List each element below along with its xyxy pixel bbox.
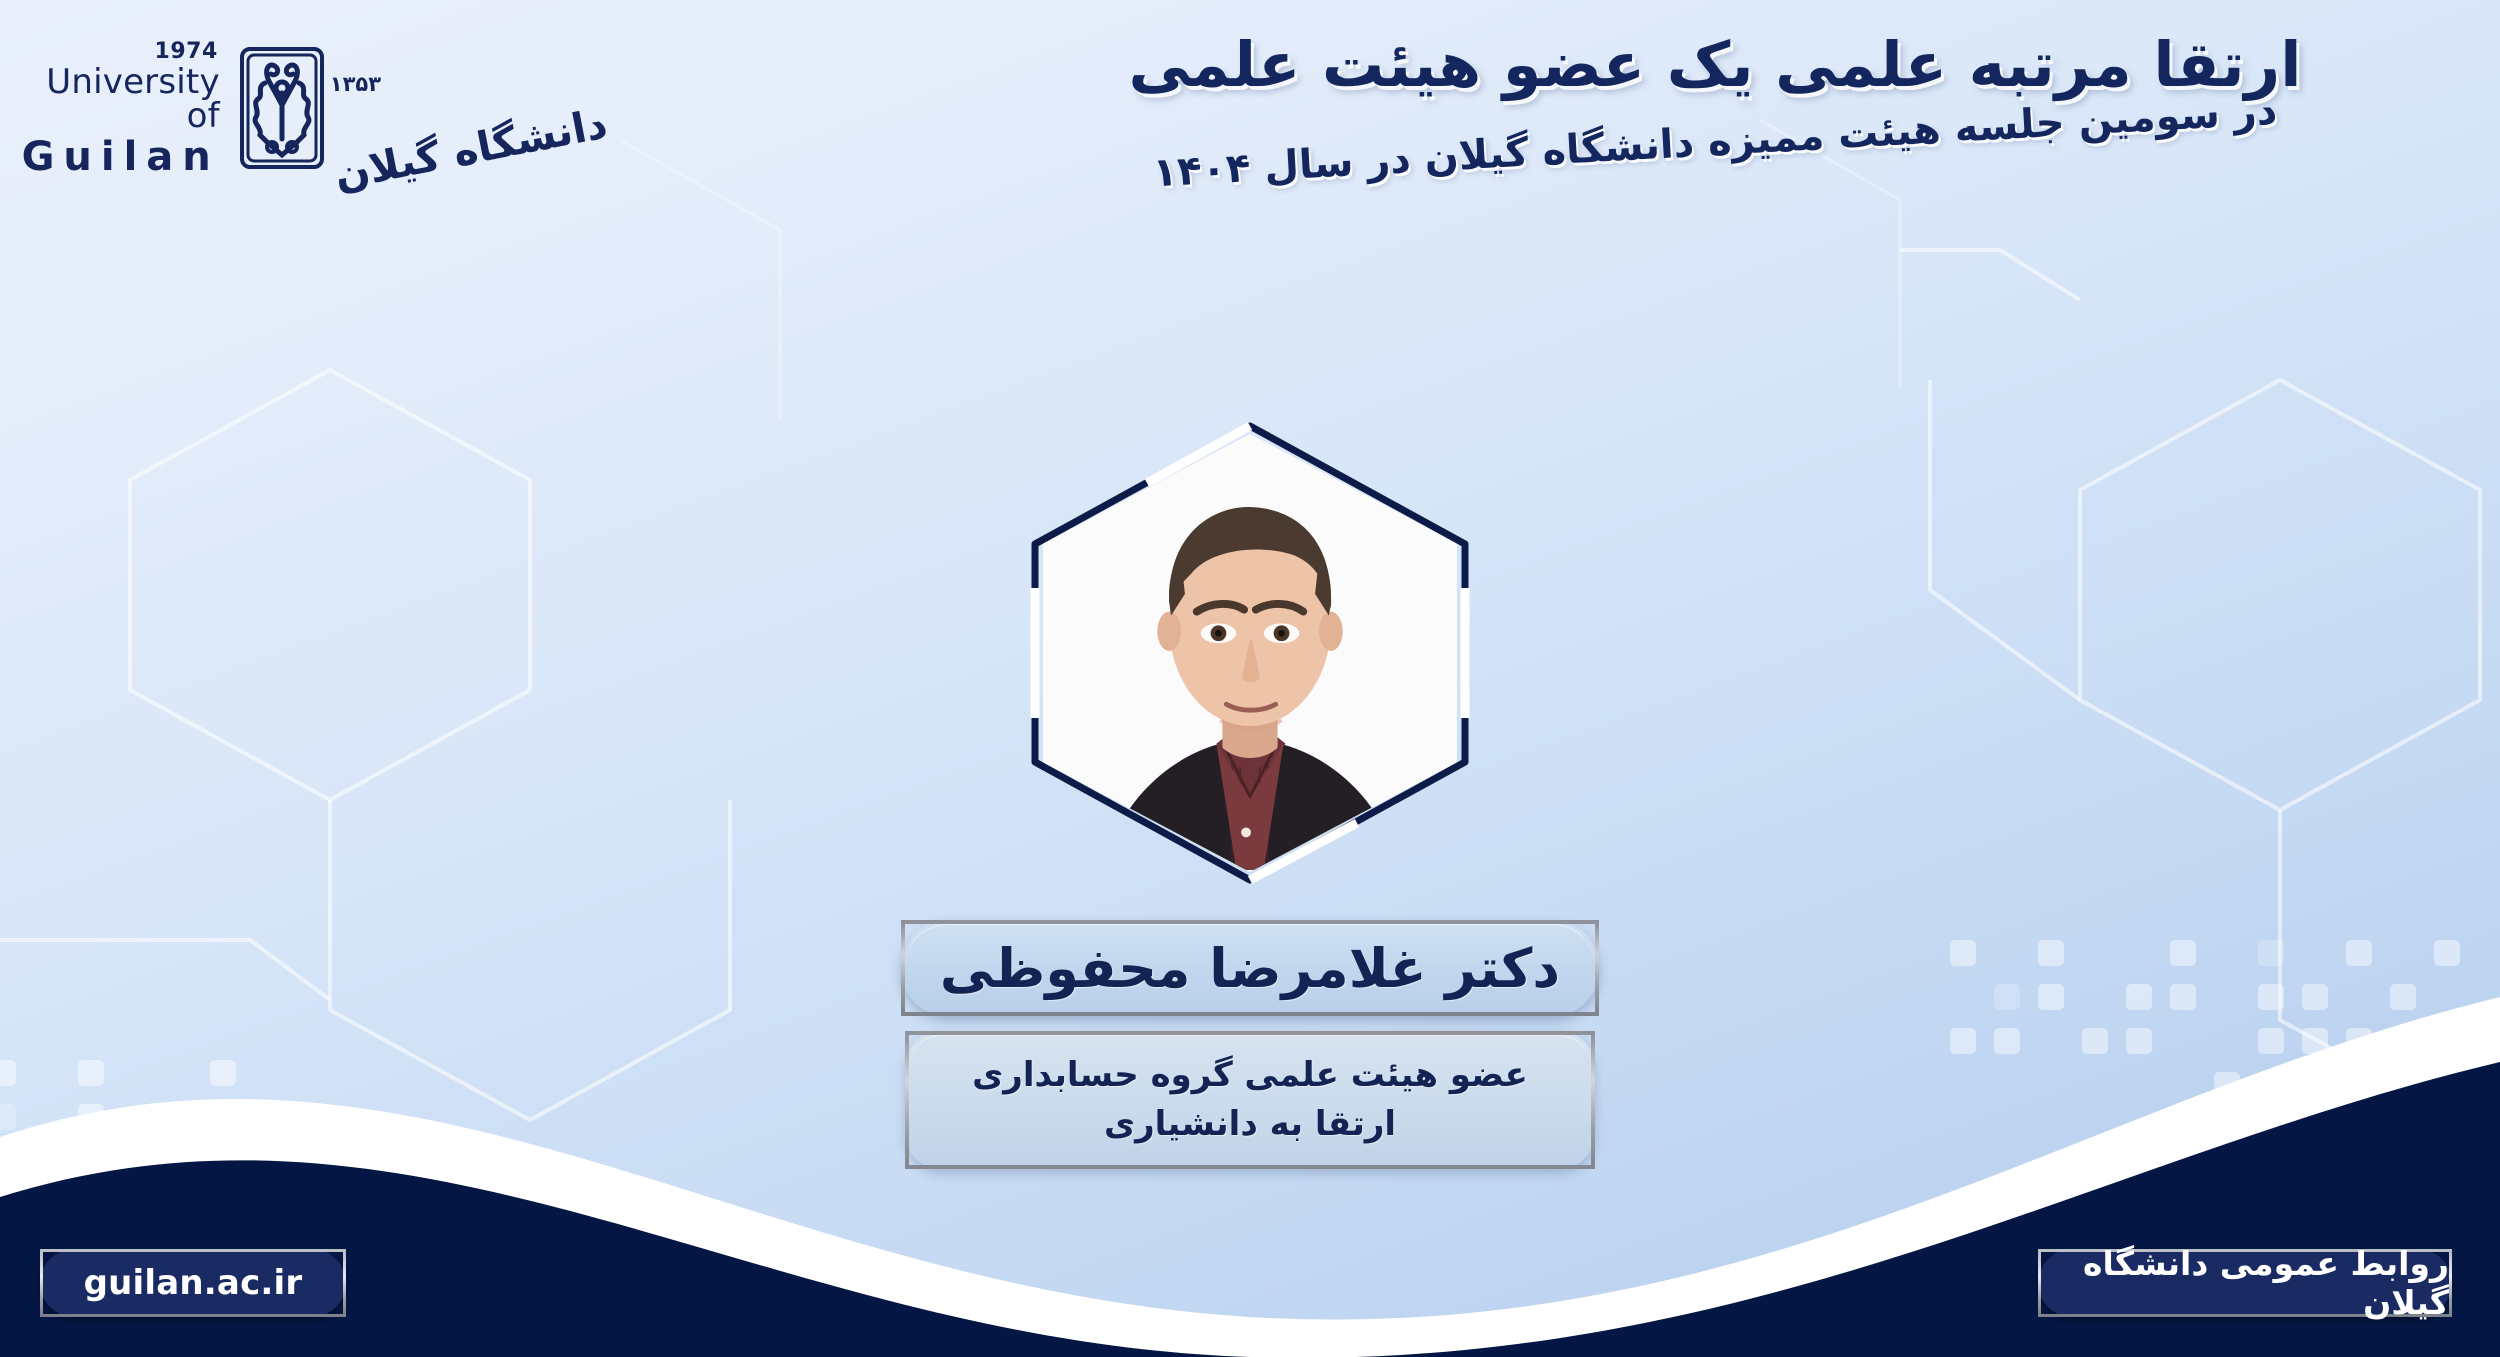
person-role-line2: ارتقا به دانشیاری bbox=[1104, 1100, 1396, 1149]
website-label: guilan.ac.ir bbox=[84, 1263, 303, 1303]
person-role-banner: عضو هیئت علمی گروه حسابداری ارتقا به دان… bbox=[905, 1031, 1595, 1169]
header-text-block: ارتقا مرتبه علمی یک عضو هیئت علمی در سوم… bbox=[990, 26, 2440, 168]
university-logo: 1974 University of Guilan bbox=[90, 34, 550, 184]
logo-name-fa: دانشگاه گیلان bbox=[331, 103, 610, 196]
person-name-banner: دکتر غلامرضا محفوظی bbox=[901, 920, 1599, 1016]
hexagon-border-icon bbox=[1027, 418, 1473, 888]
portrait-frame bbox=[1027, 418, 1473, 888]
poster-canvas: 1974 University of Guilan bbox=[0, 0, 2500, 1357]
guilan-university-emblem-icon bbox=[234, 43, 330, 175]
person-name: دکتر غلامرضا محفوظی bbox=[940, 937, 1560, 1000]
logo-persian-text: ۱۳۵۳ دانشگاه گیلان bbox=[330, 74, 607, 144]
public-relations-label: روابط عمومی دانشگاه گیلان bbox=[2041, 1244, 2449, 1322]
person-role-line1: عضو هیئت علمی گروه حسابداری bbox=[972, 1051, 1528, 1100]
logo-line2-en: Guilan bbox=[22, 137, 220, 177]
logo-year-en: 1974 bbox=[22, 41, 218, 63]
website-button[interactable]: guilan.ac.ir bbox=[40, 1249, 346, 1317]
public-relations-badge[interactable]: روابط عمومی دانشگاه گیلان bbox=[2038, 1249, 2452, 1317]
logo-year-fa: ۱۳۵۳ bbox=[330, 74, 607, 95]
logo-english-text: 1974 University of Guilan bbox=[22, 41, 220, 177]
logo-line1-en: University of bbox=[22, 65, 220, 133]
